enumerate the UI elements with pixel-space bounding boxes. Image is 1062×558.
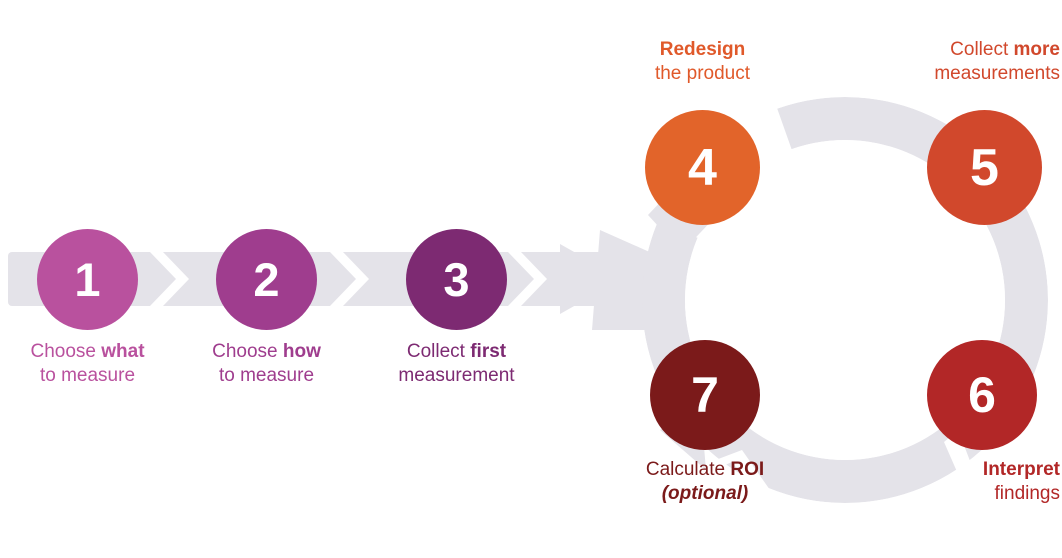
step-number-1: 1 [74,256,100,303]
step-number-7: 7 [691,370,719,420]
step-label-6-line-2: findings [852,482,1060,506]
step-label-6: Interpret findings [852,458,1060,506]
step-number-5: 5 [970,142,999,194]
step-label-3-line-1: Collect first [369,340,544,364]
step-label-7: Calculate ROI (optional) [612,458,798,506]
step-label-1-line-1: Choose what [0,340,175,364]
step-circle-3[interactable]: 3 [406,229,507,330]
step-label-5-line-1: Collect more [852,38,1060,62]
step-label-3: Collect first measurement [369,340,544,388]
step-label-1: Choose what to measure [0,340,175,388]
step-circle-4[interactable]: 4 [645,110,760,225]
step-circle-5[interactable]: 5 [927,110,1042,225]
step-label-2-line-1: Choose how [179,340,354,364]
step-label-5-line-2: measurements [852,62,1060,86]
step-circle-7[interactable]: 7 [650,340,760,450]
step-circle-2[interactable]: 2 [216,229,317,330]
step-number-2: 2 [253,256,279,303]
step-label-2-line-2: to measure [179,364,354,388]
step-label-5: Collect more measurements [852,38,1060,86]
step-label-2: Choose how to measure [179,340,354,388]
step-circle-6[interactable]: 6 [927,340,1037,450]
step-number-4: 4 [688,142,717,194]
step-label-6-line-1: Interpret [852,458,1060,482]
step-number-3: 3 [443,256,469,303]
step-number-6: 6 [968,370,996,420]
step-label-7-line-1: Calculate ROI [612,458,798,482]
step-label-4: Redesign the product [615,38,790,86]
step-label-4-line-1: Redesign [615,38,790,62]
step-label-7-line-2: (optional) [612,482,798,506]
step-label-3-line-2: measurement [369,364,544,388]
process-diagram: 1 Choose what to measure 2 Choose how to… [0,0,1062,558]
step-circle-1[interactable]: 1 [37,229,138,330]
step-label-4-line-2: the product [615,62,790,86]
step-label-1-line-2: to measure [0,364,175,388]
